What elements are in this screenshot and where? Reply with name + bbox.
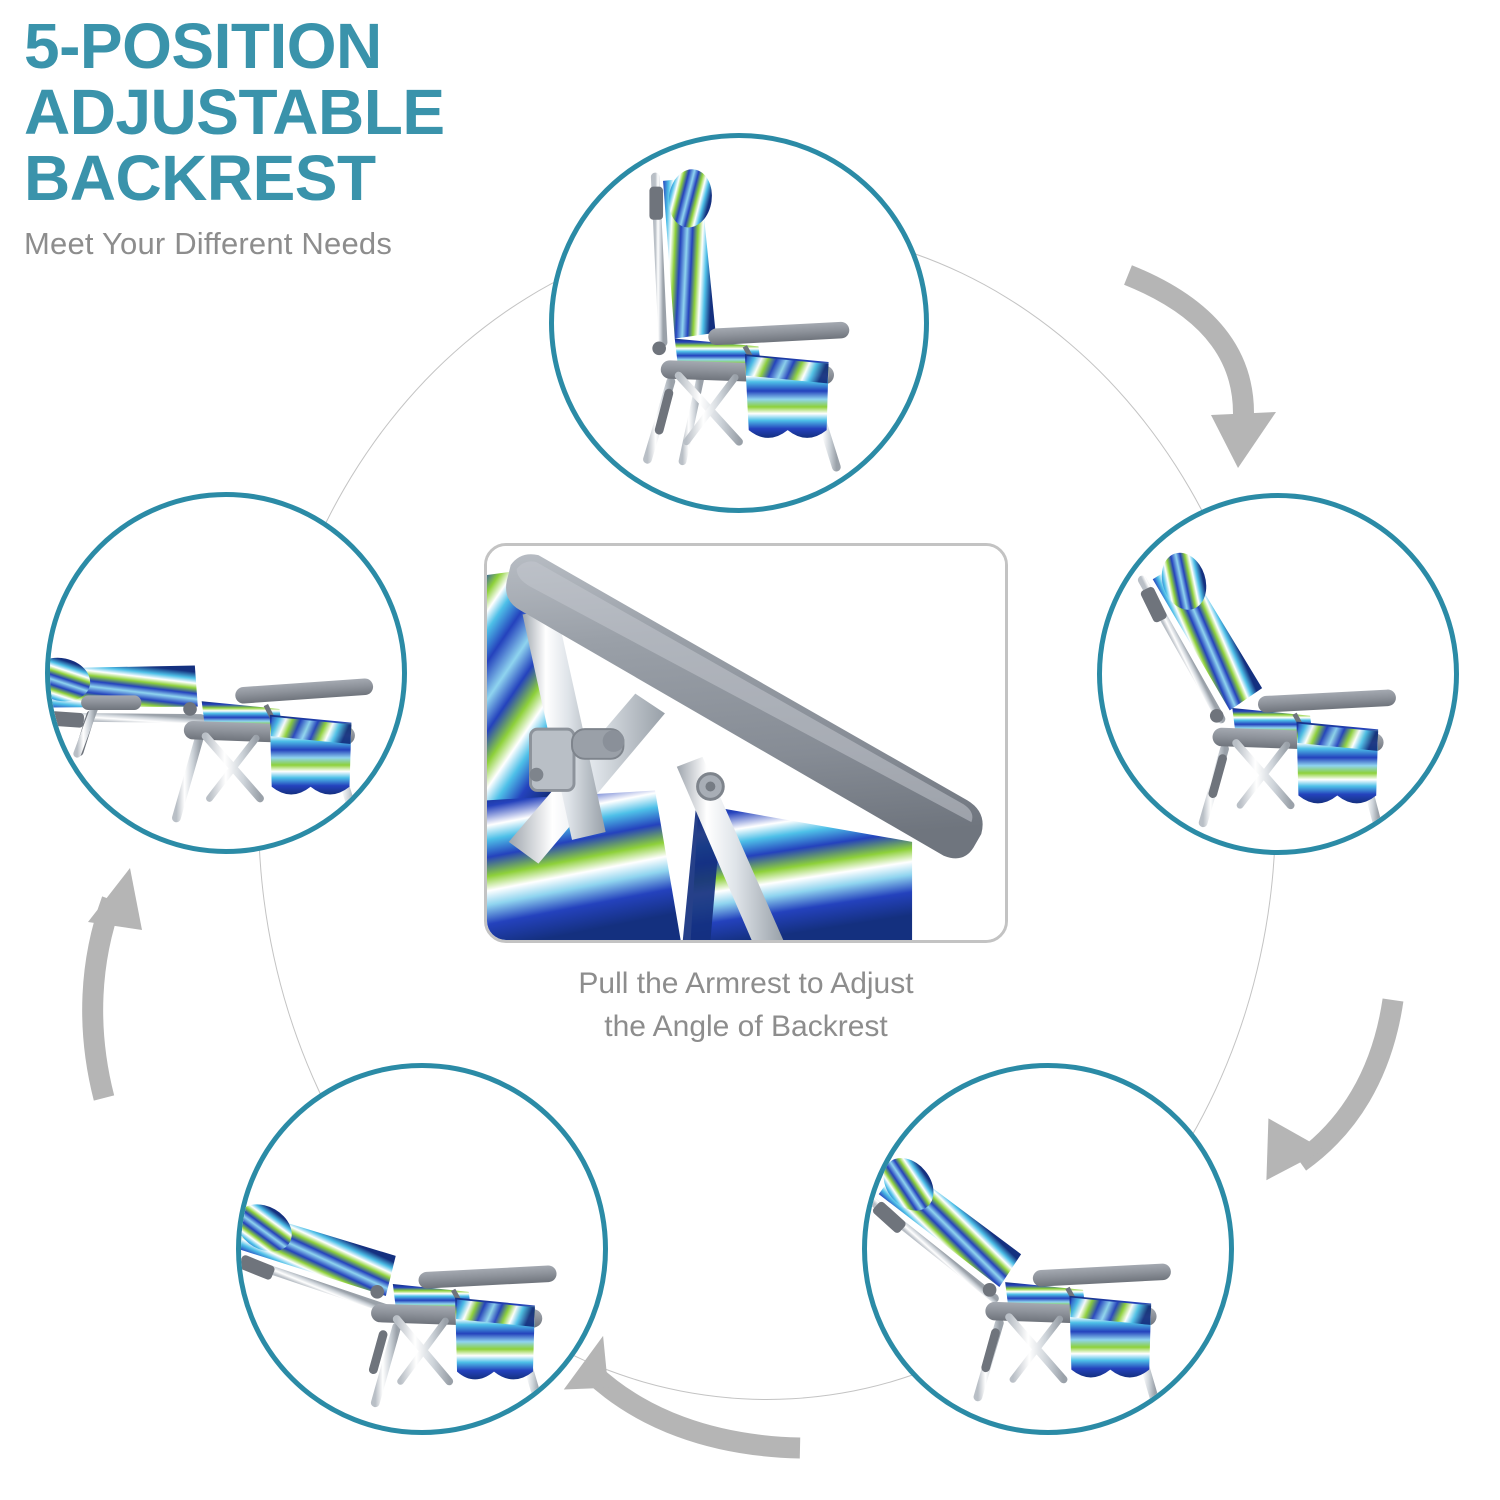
position-circle-3[interactable] (862, 1063, 1234, 1435)
armrest-closeup-photo (487, 546, 1005, 940)
position-circle-2[interactable] (1097, 493, 1459, 855)
chair-illustration-mid-recline (867, 1068, 1229, 1430)
chair-illustration-slight-recline (1102, 498, 1454, 850)
infographic-canvas: 5-POSITION ADJUSTABLE BACKREST Meet Your… (0, 0, 1500, 1500)
armrest-detail-panel[interactable] (484, 543, 1008, 943)
position-circle-1[interactable] (549, 133, 929, 513)
page-subtitle: Meet Your Different Needs (24, 226, 644, 262)
center-caption: Pull the Armrest to Adjust the Angle of … (470, 963, 1022, 1048)
heading-block: 5-POSITION ADJUSTABLE BACKREST Meet Your… (24, 14, 644, 262)
page-title: 5-POSITION ADJUSTABLE BACKREST (24, 14, 644, 212)
arrow-4-to-5 (88, 868, 142, 1098)
position-circle-5[interactable] (45, 492, 407, 854)
chair-illustration-deep-recline (241, 1068, 603, 1430)
chair-illustration-lay-flat (50, 497, 402, 849)
position-circle-4[interactable] (236, 1063, 608, 1435)
chair-illustration-upright (554, 138, 924, 508)
arrow-2-to-3 (1240, 1000, 1393, 1198)
